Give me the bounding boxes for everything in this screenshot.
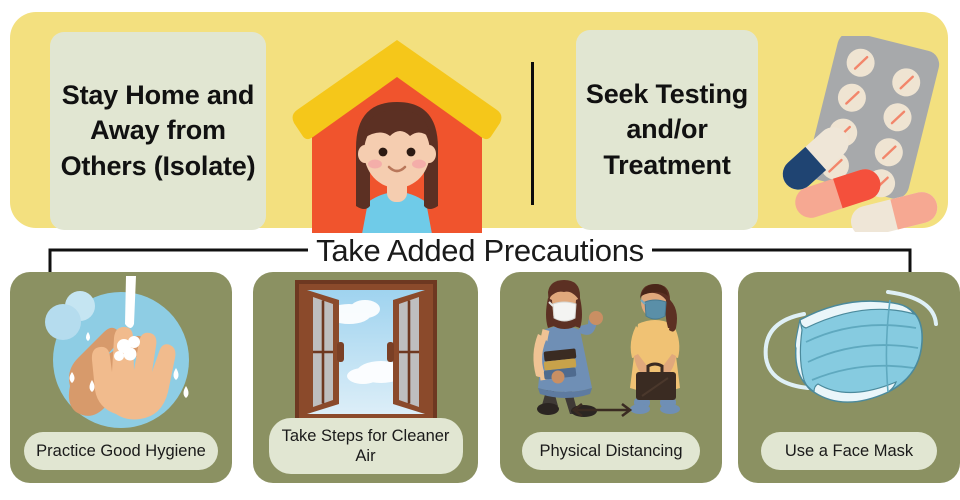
bracket-title: Take Added Precautions: [0, 232, 960, 270]
girl-inside-house-icon: [286, 36, 508, 234]
card-label-text: Use a Face Mask: [785, 441, 913, 461]
infographic-canvas: Stay Home and Away from Others (Isolate): [0, 0, 960, 500]
open-window-icon: [253, 276, 478, 428]
top-banner: Stay Home and Away from Others (Isolate): [10, 12, 948, 228]
bracket-title-text: Take Added Precautions: [308, 233, 652, 269]
precaution-card-take-steps-for-cleaner-air[interactable]: Take Steps for Cleaner Air: [253, 272, 478, 483]
precaution-card-physical-distancing[interactable]: Physical Distancing: [500, 272, 722, 483]
handwashing-icon: [10, 276, 232, 428]
callout-treatment-text: Seek Testing and/or Treatment: [580, 77, 754, 182]
banner-divider: [531, 62, 534, 205]
precaution-card-use-a-face-mask[interactable]: Use a Face Mask: [738, 272, 960, 483]
pills-blister-pack-icon: [766, 36, 956, 232]
card-label-use-a-face-mask: Use a Face Mask: [761, 432, 937, 470]
surgical-face-mask-icon: [738, 276, 960, 428]
card-label-physical-distancing: Physical Distancing: [522, 432, 700, 470]
card-label-take-steps-for-cleaner-air: Take Steps for Cleaner Air: [269, 418, 463, 474]
callout-seek-testing-treatment: Seek Testing and/or Treatment: [576, 30, 758, 230]
card-label-practice-good-hygiene: Practice Good Hygiene: [24, 432, 218, 470]
callout-stay-home-isolate: Stay Home and Away from Others (Isolate): [50, 32, 266, 230]
precaution-card-practice-good-hygiene[interactable]: Practice Good Hygiene: [10, 272, 232, 483]
card-label-text: Physical Distancing: [539, 441, 682, 461]
two-people-distancing-icon: [500, 276, 722, 428]
callout-isolate-text: Stay Home and Away from Others (Isolate): [56, 78, 260, 183]
card-label-text: Practice Good Hygiene: [36, 441, 206, 461]
card-label-text: Take Steps for Cleaner Air: [279, 426, 453, 466]
